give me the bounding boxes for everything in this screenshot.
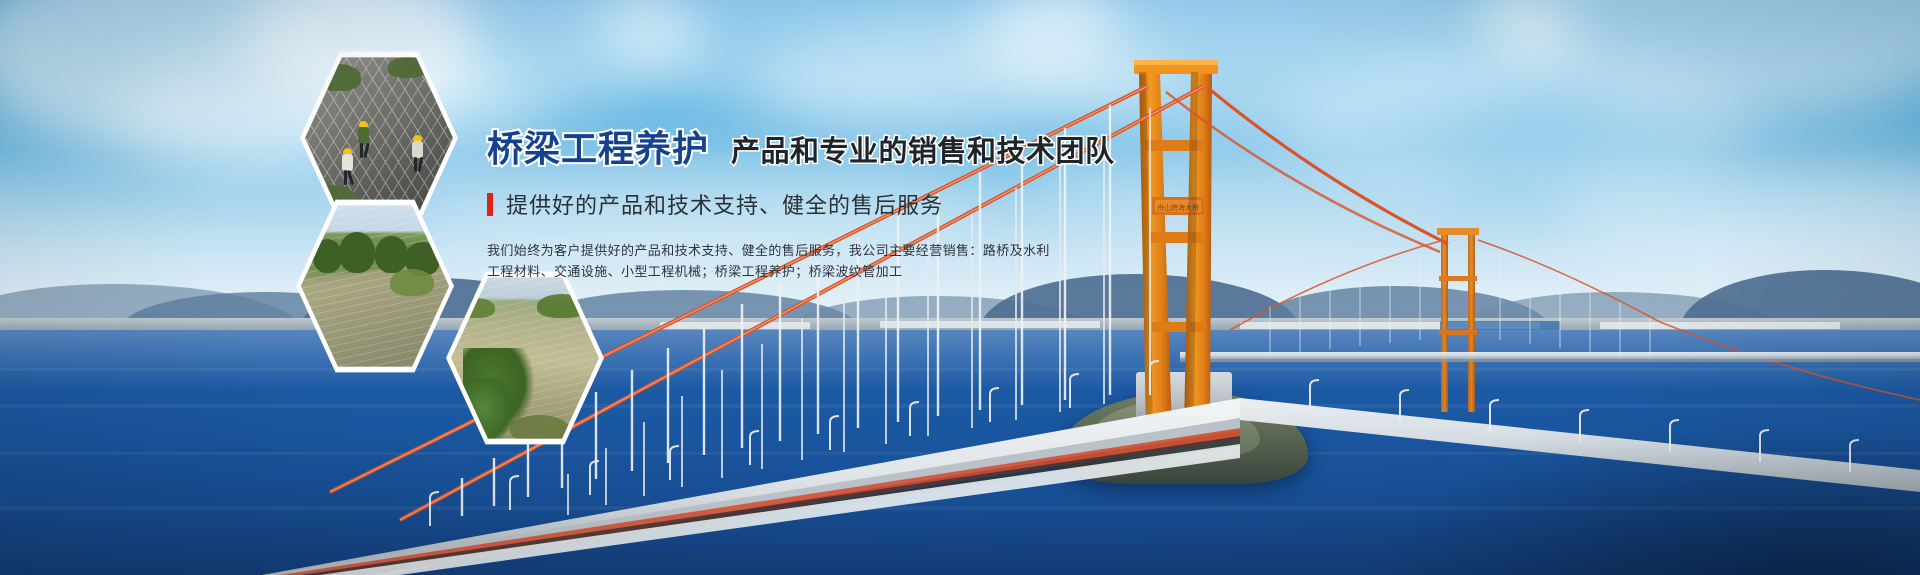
subheadline-row: 提供好的产品和技术支持、健全的售后服务 (487, 188, 1227, 220)
photo-slope-protection-vegetation (446, 268, 604, 448)
red-accent-bar (487, 193, 493, 216)
subheadline: 提供好的产品和技术支持、健全的售后服务 (506, 188, 943, 220)
promo-banner: 舟山跨海大桥 (0, 0, 1920, 575)
body-line: 工程材料、交通设施、小型工程机械；桥梁工程养护；桥梁波纹管加工 (487, 261, 1227, 282)
body-line: 我们始终为客户提供好的产品和技术支持、健全的售后服务，我公司主要经营销售：路桥及… (487, 240, 1227, 261)
headline-primary: 桥梁工程养护 (487, 120, 709, 172)
photo-green-hillside-slope (296, 196, 454, 376)
body-paragraph: 我们始终为客户提供好的产品和技术支持、健全的售后服务，我公司主要经营销售：路桥及… (487, 240, 1227, 282)
headline-row: 桥梁工程养护 产品和专业的销售和技术团队 (487, 120, 1227, 172)
bridge-tower-far (1437, 228, 1479, 412)
headline-secondary: 产品和专业的销售和技术团队 (731, 128, 1115, 170)
banner-copy: 桥梁工程养护 产品和专业的销售和技术团队 提供好的产品和技术支持、健全的售后服务… (487, 120, 1227, 282)
